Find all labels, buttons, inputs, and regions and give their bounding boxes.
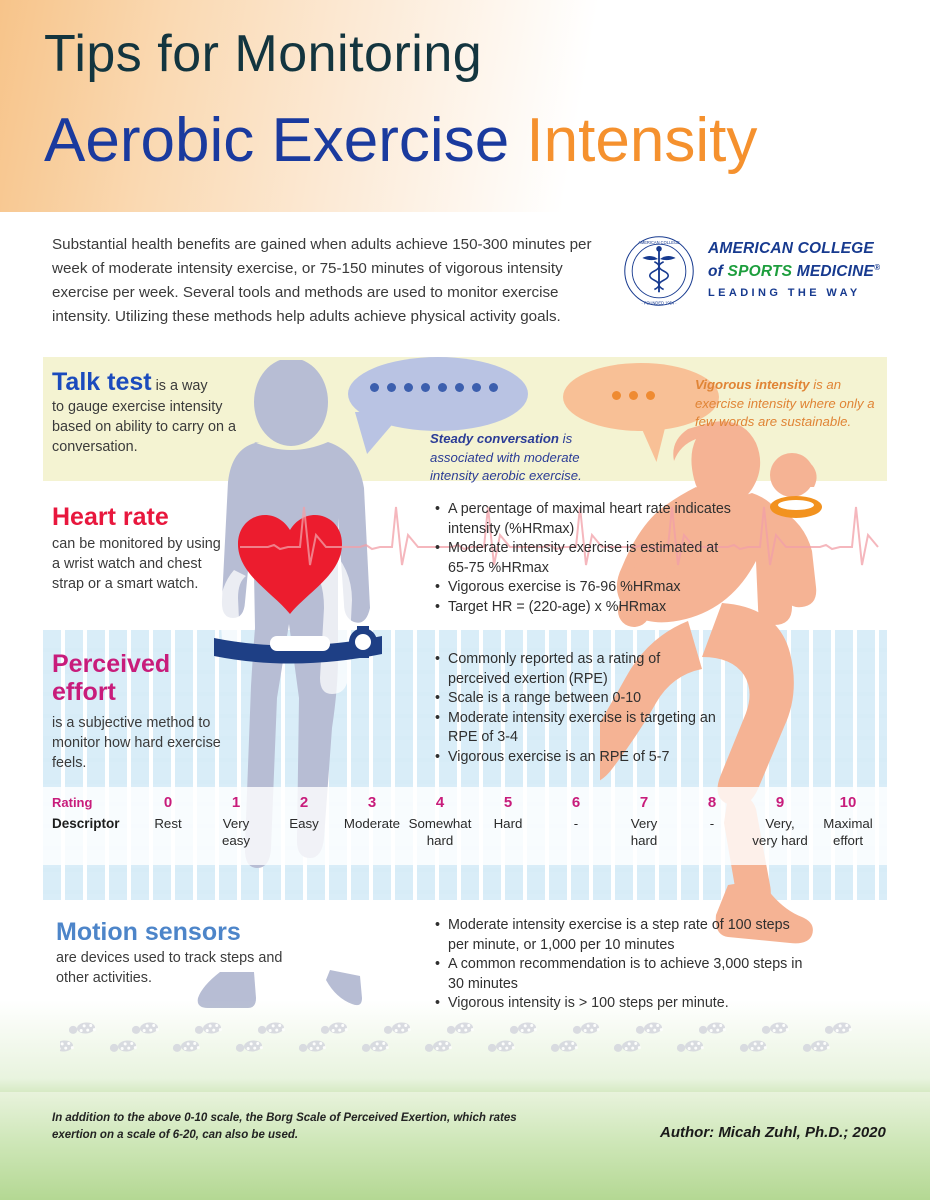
rpe-scale-column: 2Easy xyxy=(270,793,338,849)
heart-rate-section: Heart rate can be monitored by using a w… xyxy=(52,503,232,594)
bubble-dot xyxy=(421,383,430,392)
rpe-scale-column: 7Very hard xyxy=(610,793,678,849)
header-banner: Tips for Monitoring Aerobic Exercise Int… xyxy=(0,0,930,212)
rpe-descriptor: - xyxy=(678,816,746,833)
rpe-scale-column: 9Very, very hard xyxy=(746,793,814,849)
page-title-main: Aerobic Exercise xyxy=(44,106,509,175)
footprint-icon xyxy=(761,1022,789,1035)
footprint-icon xyxy=(424,1040,452,1053)
bullet-item: Commonly reported as a rating of perceiv… xyxy=(448,650,724,689)
rpe-descriptor: Maximal effort xyxy=(814,816,882,849)
grid-cell xyxy=(571,630,589,648)
grid-cell xyxy=(131,894,149,900)
rpe-scale-column: 5Hard xyxy=(474,793,542,849)
bullet-item: Vigorous exercise is an RPE of 5-7 xyxy=(448,748,724,768)
grid-cell xyxy=(417,762,435,780)
rpe-rating-number: 9 xyxy=(746,793,814,813)
rpe-scale-column: 10Maximal effort xyxy=(814,793,882,849)
motion-sensors-section: Motion sensors are devices used to track… xyxy=(56,918,296,988)
footprint-icon xyxy=(320,1022,348,1035)
footprint-icon xyxy=(635,1022,663,1035)
bullet-item: Moderate intensity exercise is a step ra… xyxy=(448,916,804,955)
grid-cell xyxy=(461,630,479,648)
rpe-descriptor: Rest xyxy=(134,816,202,833)
rpe-rating-number: 6 xyxy=(542,793,610,813)
bullet-item: A common recommendation is to achieve 3,… xyxy=(448,955,804,994)
footprint-icon xyxy=(109,1040,137,1053)
rpe-descriptor: Very easy xyxy=(202,816,270,849)
vigorous-intensity-callout: Vigorous intensity is an exercise intens… xyxy=(695,376,885,432)
bullet-item: Moderate intensity exercise is targeting… xyxy=(448,709,724,748)
rpe-rating-number: 7 xyxy=(610,793,678,813)
footer-author: Author: Micah Zuhl, Ph.D.; 2020 xyxy=(660,1124,900,1141)
heart-rate-bullets: A percentage of maximal heart rate indic… xyxy=(434,500,734,618)
grid-cell xyxy=(417,872,435,890)
infographic-page: Tips for Monitoring Aerobic Exercise Int… xyxy=(0,0,930,1200)
grid-cell xyxy=(439,872,457,890)
grid-cell xyxy=(483,872,501,890)
footprint-icon xyxy=(257,1022,285,1035)
footprint-icon xyxy=(676,1040,704,1053)
rpe-descriptor: Very, very hard xyxy=(746,816,814,849)
perceived-effort-section: Perceived effort is a subjective method … xyxy=(52,650,232,773)
footprint-icon xyxy=(802,1040,830,1053)
rpe-rating-number: 0 xyxy=(134,793,202,813)
rpe-scale-column: 1Very easy xyxy=(202,793,270,849)
bubble-dot xyxy=(455,383,464,392)
footprint-icon xyxy=(572,1022,600,1035)
page-title-line1: Tips for Monitoring xyxy=(44,26,482,82)
footprint-icon xyxy=(487,1040,515,1053)
grid-cell xyxy=(131,630,149,648)
rpe-rating-number: 10 xyxy=(814,793,882,813)
rpe-scale-column: 3Moderate xyxy=(338,793,406,849)
rpe-rating-number: 2 xyxy=(270,793,338,813)
blue-speech-bubble xyxy=(348,357,528,431)
rpe-descriptor: Very hard xyxy=(610,816,678,849)
rpe-rating-number: 3 xyxy=(338,793,406,813)
grid-cell xyxy=(439,630,457,648)
grid-cell xyxy=(109,630,127,648)
rpe-scale-columns: 0Rest1Very easy2Easy3Moderate4Somewhat h… xyxy=(134,793,882,849)
grid-cell xyxy=(153,894,171,900)
svg-text:· FOUNDED 1954 ·: · FOUNDED 1954 · xyxy=(641,300,676,305)
bubble-dot xyxy=(387,383,396,392)
grid-cell xyxy=(549,894,567,900)
acsm-logo: AMERICAN COLLEGE · FOUNDED 1954 · AMERIC… xyxy=(622,232,884,312)
grid-cell xyxy=(527,630,545,648)
acsm-seal-icon: AMERICAN COLLEGE · FOUNDED 1954 · xyxy=(622,234,696,308)
bullet-item: Target HR = (220-age) x %HRmax xyxy=(448,598,734,618)
rpe-rating-number: 1 xyxy=(202,793,270,813)
grid-cell xyxy=(461,894,479,900)
rpe-scale-column: 0Rest xyxy=(134,793,202,849)
footprint-icon xyxy=(361,1040,389,1053)
rating-row-label: Rating xyxy=(52,793,124,813)
footprint-trail-icon xyxy=(60,1013,890,1065)
acsm-logo-sports: SPORTS xyxy=(728,263,793,280)
acsm-logo-line1: AMERICAN COLLEGE xyxy=(708,240,888,258)
bubble-dot xyxy=(404,383,413,392)
motion-sensors-body: are devices used to track steps and othe… xyxy=(56,948,296,988)
grid-cell xyxy=(417,696,435,714)
footprint-icon xyxy=(298,1040,326,1053)
bubble-dot xyxy=(646,391,655,400)
heart-rate-body: can be monitored by using a wrist watch … xyxy=(52,534,232,594)
bubble-dot xyxy=(489,383,498,392)
rpe-descriptor: - xyxy=(542,816,610,833)
grid-cell xyxy=(65,894,83,900)
moderate-callout-bold: Steady conversation xyxy=(430,431,559,446)
bullet-item: Vigorous exercise is 76-96 %HRmax xyxy=(448,578,734,598)
grid-cell xyxy=(417,674,435,692)
footprint-icon xyxy=(509,1022,537,1035)
vigorous-callout-bold: Vigorous intensity xyxy=(695,377,810,392)
footprint-icon xyxy=(739,1040,767,1053)
rpe-descriptor: Easy xyxy=(270,816,338,833)
grid-cell xyxy=(505,872,523,890)
grid-cell xyxy=(417,652,435,670)
svg-text:AMERICAN COLLEGE: AMERICAN COLLEGE xyxy=(638,240,680,245)
rpe-descriptor: Hard xyxy=(474,816,542,833)
rpe-scale-column: 8- xyxy=(678,793,746,849)
rpe-scale-row-labels: Rating Descriptor xyxy=(52,793,124,835)
perceived-effort-bullets: Commonly reported as a rating of perceiv… xyxy=(434,650,724,768)
bubble-dot xyxy=(612,391,621,400)
registered-mark: ® xyxy=(874,263,880,272)
moderate-conversation-callout: Steady conversation is associated with m… xyxy=(430,430,590,486)
grid-cell xyxy=(153,872,171,890)
rpe-descriptor: Moderate xyxy=(338,816,406,833)
footprint-icon xyxy=(172,1040,200,1053)
motion-sensors-heading: Motion sensors xyxy=(56,918,296,946)
grid-cell xyxy=(505,630,523,648)
footprint-icon xyxy=(194,1022,222,1035)
grid-cell xyxy=(549,872,567,890)
grid-cell xyxy=(87,894,105,900)
talk-test-heading: Talk test xyxy=(52,368,152,396)
page-title-accent: Intensity xyxy=(526,106,757,175)
acsm-logo-line2: of SPORTS MEDICINE® xyxy=(708,258,888,281)
grid-cell xyxy=(109,872,127,890)
grid-cell xyxy=(153,630,171,648)
grid-cell xyxy=(483,630,501,648)
grid-cell xyxy=(109,894,127,900)
grid-cell xyxy=(505,894,523,900)
footprint-icon xyxy=(824,1022,852,1035)
footprint-icon xyxy=(698,1022,726,1035)
perceived-effort-heading-line1: Perceived xyxy=(52,650,232,678)
footprint-icon xyxy=(60,1040,74,1053)
bullet-item: A percentage of maximal heart rate indic… xyxy=(448,500,734,539)
footprint-icon xyxy=(446,1022,474,1035)
grid-cell xyxy=(43,894,61,900)
grid-cell xyxy=(43,872,61,890)
bullet-list: Commonly reported as a rating of perceiv… xyxy=(434,650,724,768)
grid-cell xyxy=(65,630,83,648)
bullet-item: Scale is a range between 0-10 xyxy=(448,689,724,709)
grid-cell xyxy=(549,630,567,648)
grid-cell xyxy=(131,872,149,890)
rpe-rating-number: 4 xyxy=(406,793,474,813)
blue-bubble-dots xyxy=(370,383,498,392)
footprint-icon xyxy=(131,1022,159,1035)
rpe-scale-column: 4Somewhat hard xyxy=(406,793,474,849)
grid-cell xyxy=(87,872,105,890)
rpe-rating-scale: Rating Descriptor 0Rest1Very easy2Easy3M… xyxy=(52,793,882,865)
rpe-rating-number: 8 xyxy=(678,793,746,813)
rpe-descriptor: Somewhat hard xyxy=(406,816,474,849)
rpe-scale-column: 6- xyxy=(542,793,610,849)
talk-test-section: Talk test is a way to gauge exercise int… xyxy=(52,368,242,457)
footprint-icon xyxy=(383,1022,411,1035)
footprint-icon xyxy=(613,1040,641,1053)
page-title-line2: Aerobic Exercise Intensity xyxy=(44,108,757,174)
grid-cell xyxy=(87,630,105,648)
bubble-dot xyxy=(472,383,481,392)
talk-test-body: to gauge exercise intensity based on abi… xyxy=(52,397,242,457)
grid-cell xyxy=(65,872,83,890)
grid-cell xyxy=(571,894,589,900)
footprint-icon xyxy=(235,1040,263,1053)
footprint-icon xyxy=(68,1022,96,1035)
grid-cell xyxy=(43,630,61,648)
perceived-effort-body: is a subjective method to monitor how ha… xyxy=(52,713,232,773)
heart-rate-heading: Heart rate xyxy=(52,503,232,531)
bullet-item: Moderate intensity exercise is estimated… xyxy=(448,539,734,578)
bullet-list: A percentage of maximal heart rate indic… xyxy=(434,500,734,618)
intro-paragraph: Substantial health benefits are gained w… xyxy=(52,233,612,329)
grid-cell xyxy=(417,718,435,736)
grid-cell xyxy=(417,630,435,648)
footprint-icon xyxy=(550,1040,578,1053)
rpe-rating-number: 5 xyxy=(474,793,542,813)
grid-cell xyxy=(527,872,545,890)
grid-cell xyxy=(417,894,435,900)
orange-bubble-dots xyxy=(612,391,655,400)
grid-cell xyxy=(439,894,457,900)
grid-cell xyxy=(461,872,479,890)
footer-note: In addition to the above 0-10 scale, the… xyxy=(52,1110,522,1144)
descriptor-row-label: Descriptor xyxy=(52,813,124,835)
bubble-dot xyxy=(438,383,447,392)
acsm-logo-tagline: LEADING THE WAY xyxy=(708,284,888,302)
bubble-dot xyxy=(629,391,638,400)
perceived-effort-heading-line2: effort xyxy=(52,678,232,706)
grid-cell xyxy=(483,894,501,900)
footer-band xyxy=(0,1092,930,1200)
grid-cell xyxy=(527,894,545,900)
grid-cell xyxy=(571,872,589,890)
grid-cell xyxy=(417,740,435,758)
acsm-logo-medicine: MEDICINE xyxy=(792,263,874,280)
talk-test-heading-lead: is a way xyxy=(152,378,208,394)
bubble-dot xyxy=(370,383,379,392)
acsm-logo-of: of xyxy=(708,263,728,280)
talk-test-heading-row: Talk test is a way xyxy=(52,368,242,396)
acsm-logo-text: AMERICAN COLLEGE of SPORTS MEDICINE® LEA… xyxy=(708,240,888,302)
